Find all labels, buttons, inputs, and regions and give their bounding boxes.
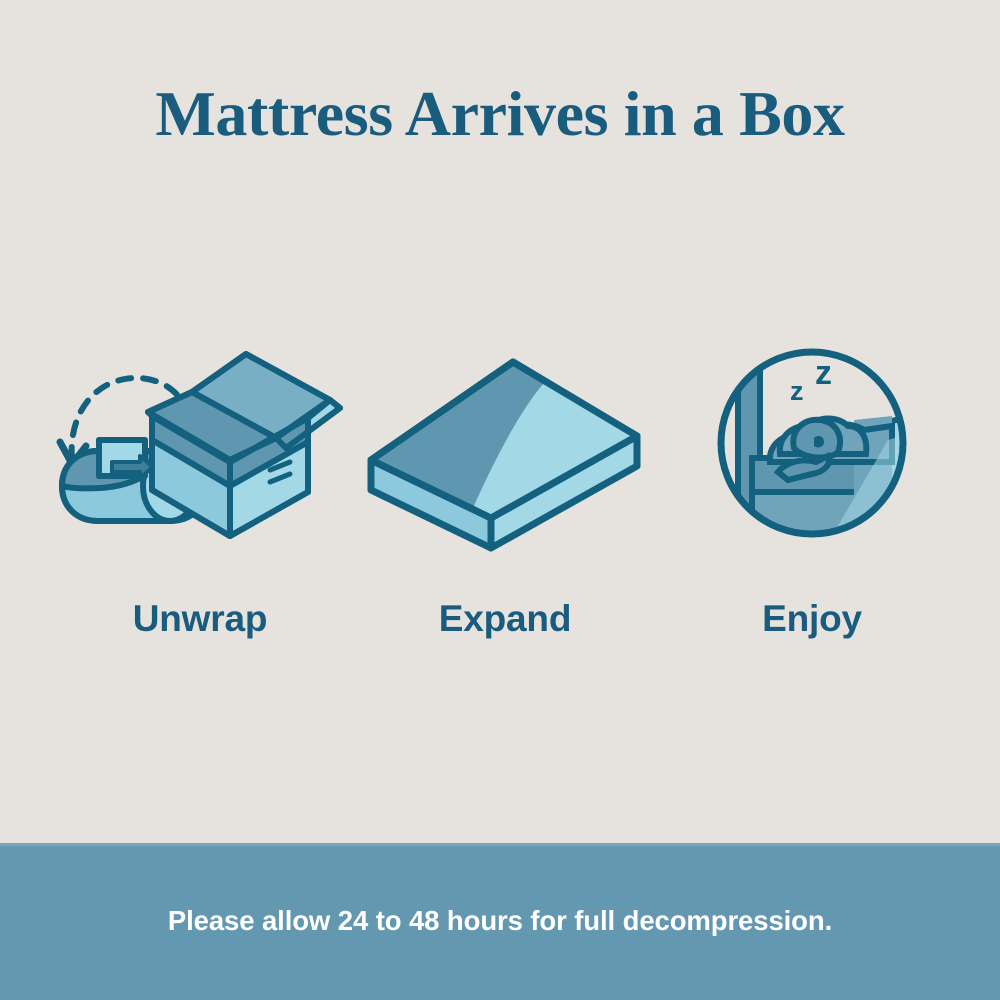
sleep-z-small: z xyxy=(790,376,804,406)
box-with-rolled-mattress-icon xyxy=(40,330,360,565)
person-sleeping-in-bed-icon: z z xyxy=(652,330,972,565)
steps-row: Unwrap xyxy=(0,330,1000,660)
footer-top-rule xyxy=(0,843,1000,846)
step-label-enjoy: Enjoy xyxy=(652,598,972,640)
infographic-root: Mattress Arrives in a Box xyxy=(0,0,1000,1000)
footer-note: Please allow 24 to 48 hours for full dec… xyxy=(0,905,1000,937)
page-title: Mattress Arrives in a Box xyxy=(0,79,1000,149)
step-expand: Expand xyxy=(345,330,665,660)
step-label-expand: Expand xyxy=(345,598,665,640)
sleep-z-large: z xyxy=(815,354,832,392)
step-enjoy: z z Enjoy xyxy=(652,330,972,660)
footer-banner: Please allow 24 to 48 hours for full dec… xyxy=(0,843,1000,1000)
step-label-unwrap: Unwrap xyxy=(40,598,360,640)
step-unwrap: Unwrap xyxy=(40,330,360,660)
flat-mattress-icon xyxy=(345,330,665,565)
